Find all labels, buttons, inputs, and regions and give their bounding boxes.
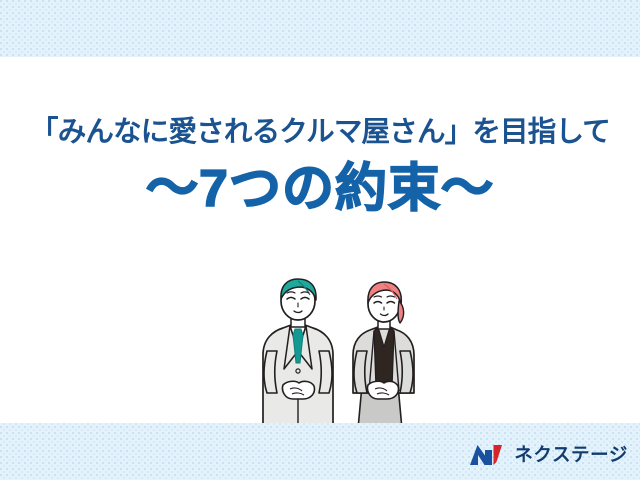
headline-line-1: 「みんなに愛されるクルマ屋さん」を目指して <box>0 118 640 147</box>
brand-name-text: ネクステージ <box>514 446 628 465</box>
brand-logo: ネクステージ <box>469 442 628 468</box>
female-staff-figure <box>353 282 414 423</box>
staff-illustration <box>243 277 423 423</box>
male-staff-figure <box>263 279 333 423</box>
headline-block: 「みんなに愛されるクルマ屋さん」を目指して 〜7つの約束〜 <box>0 118 640 215</box>
slide-canvas: 「みんなに愛されるクルマ屋さん」を目指して 〜7つの約束〜 <box>0 0 640 480</box>
nexstage-n-mark-icon <box>469 442 507 468</box>
headline-line-2: 〜7つの約束〜 <box>0 163 640 215</box>
